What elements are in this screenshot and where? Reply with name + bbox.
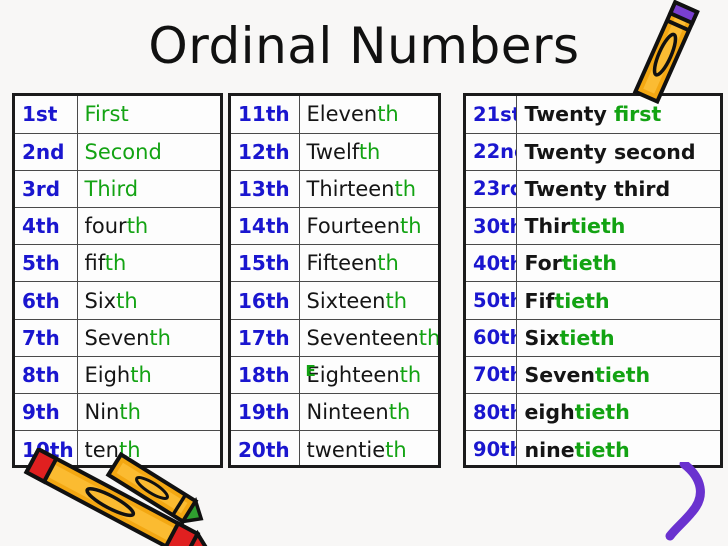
word-suffix: th (377, 251, 399, 275)
ordinal-number: 18th (231, 356, 299, 393)
word-stem: Seven (85, 326, 150, 350)
ordinal-number: 60th (466, 319, 516, 356)
word-suffix: th (359, 140, 381, 164)
word-stem: Fifteen (307, 251, 378, 275)
crossed-crayons-icon (2, 448, 252, 546)
word-suffix: th (130, 363, 152, 387)
ordinal-number: 6th (15, 282, 77, 319)
word-suffix: th (395, 177, 417, 201)
word-stem: fif (85, 251, 105, 275)
ordinal-word: Eighth (77, 356, 220, 393)
crayon-stroke-icon (636, 462, 726, 546)
ordinal-number: 50th (466, 282, 516, 319)
ordinals-table-column-2: 11thEleventh12thTwelfth13thThirteenth14t… (228, 93, 441, 468)
ordinal-number: 1st (15, 96, 77, 133)
word-stem: Thir (525, 214, 571, 238)
ordinal-word: Twenty third (516, 170, 720, 207)
word-suffix: th (385, 438, 407, 462)
ordinal-word: Ninth (77, 394, 220, 431)
ordinal-number: 19th (231, 394, 299, 431)
ordinal-word: Third (77, 170, 220, 207)
table-row: 7thSeventh (15, 319, 220, 356)
table-row: 20thtwentieth (231, 431, 438, 468)
ordinal-number: 7th (15, 319, 77, 356)
table-row: 80theightieth (466, 394, 720, 431)
ordinal-number: 30th (466, 208, 516, 245)
word-suffix: th (400, 214, 422, 238)
ordinal-word: Fortieth (516, 245, 720, 282)
table-row: 3rdThird (15, 170, 220, 207)
table-row: 18thEEighteenth (231, 356, 438, 393)
ordinals-table-column-3: 21stTwenty first22ndTwenty second23rdTwe… (463, 93, 723, 468)
table-row: 23rdTwenty third (466, 170, 720, 207)
ordinal-number: 15th (231, 245, 299, 282)
word-stem: Seven (525, 363, 596, 387)
ordinal-word: Sixtieth (516, 319, 720, 356)
ordinal-number: 40th (466, 245, 516, 282)
ordinal-number: 70th (466, 356, 516, 393)
word-suffix: th (116, 289, 138, 313)
word-stem: Eleven (307, 102, 378, 126)
ordinal-number: 22nd (466, 133, 516, 170)
ordinal-word: Ninteenth (299, 394, 438, 431)
ordinals-table-column-1: 1stFirst2ndSecond3rdThird4thfourth5thfif… (12, 93, 223, 468)
word-suffix: tieth (562, 251, 617, 275)
word-suffix: th (400, 363, 422, 387)
table-row: 60thSixtieth (466, 319, 720, 356)
word-stem: Thirteen (307, 177, 395, 201)
ordinal-number: 3rd (15, 170, 77, 207)
ordinal-word: Twelfth (299, 133, 438, 170)
ordinal-number: 90th (466, 431, 516, 468)
ordinal-word: EEighteenth (299, 356, 438, 393)
word-suffix: th (149, 326, 171, 350)
word-stem: twentie (307, 438, 386, 462)
ordinal-table: 21stTwenty first22ndTwenty second23rdTwe… (466, 96, 720, 468)
word-stem: Sixteen (307, 289, 386, 313)
word-suffix: th (105, 251, 127, 275)
word-stem: Fourteen (307, 214, 401, 238)
word-stem: four (85, 214, 127, 238)
table-row: 70thSeventieth (466, 356, 720, 393)
ordinal-word: Fifteenth (299, 245, 438, 282)
stray-green-glyph: E (306, 364, 316, 379)
table-body: 1stFirst2ndSecond3rdThird4thfourth5thfif… (15, 96, 220, 468)
word-suffix: th (127, 214, 149, 238)
ordinal-word: Seventh (77, 319, 220, 356)
table-row: 30thThirtieth (466, 208, 720, 245)
table-row: 5thfifth (15, 245, 220, 282)
word-stem: nine (525, 438, 575, 462)
glyph-artifact-overlay: EEighteen (307, 363, 400, 387)
ordinal-number: 14th (231, 208, 299, 245)
table-row: 14thFourteenth (231, 208, 438, 245)
word-suffix: th (419, 326, 438, 350)
ordinal-word: Fourteenth (299, 208, 438, 245)
table-row: 19thNinteenth (231, 394, 438, 431)
word-suffix: tieth (575, 438, 630, 462)
table-row: 2ndSecond (15, 133, 220, 170)
word-stem: Fif (525, 289, 555, 313)
ordinal-number: 23rd (466, 170, 516, 207)
table-row: 17thSeventeenth (231, 319, 438, 356)
ordinal-table: 11thEleventh12thTwelfth13thThirteenth14t… (231, 96, 438, 468)
ordinal-number: 80th (466, 394, 516, 431)
table-row: 11thEleventh (231, 96, 438, 133)
ordinal-word: Sixteenth (299, 282, 438, 319)
ordinal-word: First (77, 96, 220, 133)
ordinal-number: 12th (231, 133, 299, 170)
word-stem: Twelf (307, 140, 359, 164)
ordinal-number: 5th (15, 245, 77, 282)
word-suffix: Second (85, 140, 162, 164)
table-body: 11thEleventh12thTwelfth13thThirteenth14t… (231, 96, 438, 468)
word-suffix: th (389, 400, 411, 424)
ordinal-number: 17th (231, 319, 299, 356)
ordinal-number: 2nd (15, 133, 77, 170)
word-stem: Eighteen (307, 363, 400, 387)
ordinal-number: 21st (466, 96, 516, 133)
ordinal-word: Sixth (77, 282, 220, 319)
word-stem: Six (525, 326, 560, 350)
ordinal-number: 16th (231, 282, 299, 319)
table-row: 6thSixth (15, 282, 220, 319)
ordinal-word: Seventieth (516, 356, 720, 393)
table-row: 16thSixteenth (231, 282, 438, 319)
ordinal-word: Seventeenth (299, 319, 438, 356)
table-row: 22ndTwenty second (466, 133, 720, 170)
ordinal-number: 13th (231, 170, 299, 207)
table-row: 13thThirteenth (231, 170, 438, 207)
ordinal-word: Thirtieth (516, 208, 720, 245)
table-body: 21stTwenty first22ndTwenty second23rdTwe… (466, 96, 720, 468)
table-row: 40thFortieth (466, 245, 720, 282)
word-stem: Eigh (85, 363, 131, 387)
ordinal-number: 11th (231, 96, 299, 133)
table-row: 15thFifteenth (231, 245, 438, 282)
ordinal-word: Fiftieth (516, 282, 720, 319)
word-suffix: tieth (575, 400, 630, 424)
ordinal-word: Second (77, 133, 220, 170)
word-suffix: tieth (560, 326, 615, 350)
ordinal-number: 9th (15, 394, 77, 431)
word-stem: Twenty third (525, 177, 671, 201)
table-row: 4thfourth (15, 208, 220, 245)
ordinal-word: eightieth (516, 394, 720, 431)
word-suffix: Third (85, 177, 139, 201)
word-stem: Seventeen (307, 326, 419, 350)
table-row: 9thNinth (15, 394, 220, 431)
word-stem: For (525, 251, 562, 275)
ordinal-word: fifth (77, 245, 220, 282)
table-row: 8thEighth (15, 356, 220, 393)
word-suffix: tieth (595, 363, 650, 387)
table-row: 1stFirst (15, 96, 220, 133)
crayon-icon (604, 0, 724, 108)
word-stem: Six (85, 289, 117, 313)
table-row: 50thFiftieth (466, 282, 720, 319)
word-stem: Twenty second (525, 140, 696, 164)
word-stem: Nin (85, 400, 120, 424)
word-suffix: th (377, 102, 399, 126)
ordinal-word: Eleventh (299, 96, 438, 133)
ordinal-number: 8th (15, 356, 77, 393)
ordinal-word: twentieth (299, 431, 438, 468)
word-suffix: First (85, 102, 129, 126)
word-stem: eigh (525, 400, 575, 424)
word-suffix: tieth (554, 289, 609, 313)
ordinal-word: fourth (77, 208, 220, 245)
ordinal-word: Twenty second (516, 133, 720, 170)
word-suffix: th (385, 289, 407, 313)
table-row: 12thTwelfth (231, 133, 438, 170)
word-suffix: th (119, 400, 141, 424)
ordinal-number: 4th (15, 208, 77, 245)
word-suffix: tieth (570, 214, 625, 238)
ordinal-table: 1stFirst2ndSecond3rdThird4thfourth5thfif… (15, 96, 220, 468)
word-stem: Twenty (525, 102, 614, 126)
ordinal-word: Thirteenth (299, 170, 438, 207)
word-stem: Ninteen (307, 400, 389, 424)
